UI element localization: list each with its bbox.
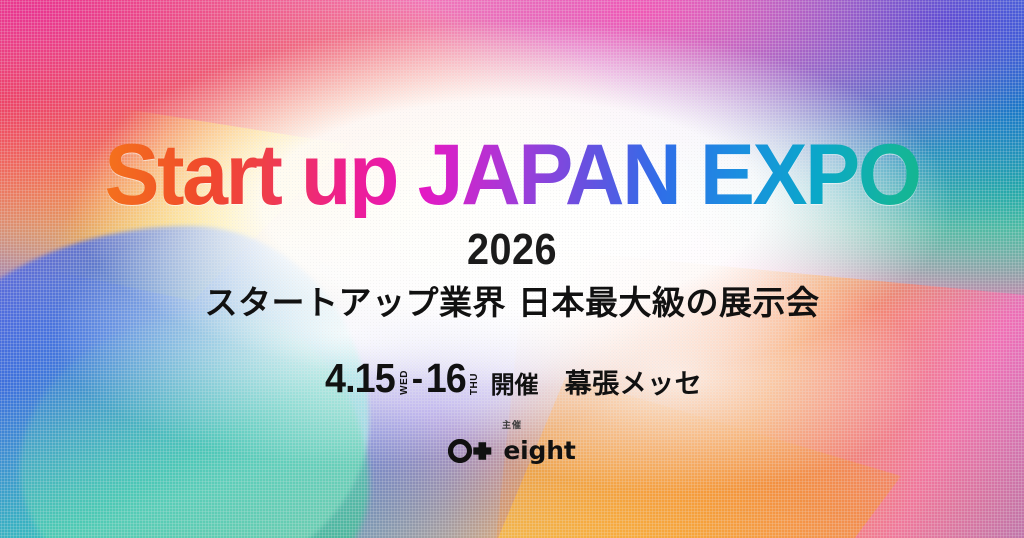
event-dateline: 4.15 WED - 16 THU 開催 幕張メッセ bbox=[0, 358, 1024, 399]
date-end-day: 16 bbox=[426, 358, 466, 399]
event-venue: 幕張メッセ bbox=[565, 371, 703, 398]
organizer-brand-name: eight bbox=[503, 438, 575, 463]
date-start-day: 4.15 bbox=[325, 358, 395, 399]
date-suffix-label: 開催 bbox=[491, 373, 539, 397]
event-tagline: スタートアップ業界 日本最大級の展示会 bbox=[0, 284, 1024, 322]
date-end-weekday: THU bbox=[470, 373, 480, 395]
date-start-weekday: WED bbox=[400, 370, 410, 395]
banner-lockup: Start up JAPAN EXPO 2026 スタートアップ業界 日本最大級… bbox=[0, 0, 1024, 538]
organizer-label: 主催 bbox=[502, 418, 522, 431]
event-year: 2026 bbox=[51, 228, 973, 272]
date-separator: - bbox=[412, 362, 423, 396]
organizer-block: 主催 eight bbox=[0, 418, 1024, 463]
organizer-brand: eight bbox=[448, 438, 575, 463]
event-title: Start up JAPAN EXPO bbox=[20, 132, 1003, 218]
ring-and-cross-icon bbox=[448, 439, 494, 463]
event-banner: Start up JAPAN EXPO 2026 スタートアップ業界 日本最大級… bbox=[0, 0, 1024, 538]
